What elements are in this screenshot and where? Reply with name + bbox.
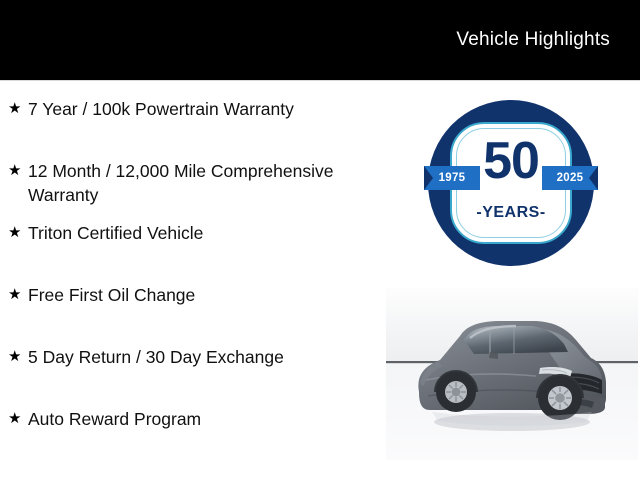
page-title: Vehicle Highlights xyxy=(456,29,610,51)
star-bullet-icon: ★ xyxy=(8,220,28,245)
list-item-label: Triton Certified Vehicle xyxy=(28,220,376,245)
badge-end-year-ribbon: 2025 xyxy=(542,166,598,190)
list-item: ★ 7 Year / 100k Powertrain Warranty xyxy=(8,96,376,158)
vehicle-illustration xyxy=(386,288,638,460)
vehicle-photo xyxy=(386,288,638,460)
star-bullet-icon: ★ xyxy=(8,158,28,183)
list-item: ★ Auto Reward Program xyxy=(8,406,376,468)
star-bullet-icon: ★ xyxy=(8,344,28,369)
badge-start-year-ribbon: 1975 xyxy=(424,166,480,190)
anniversary-badge: 50 -YEARS- 1975 2025 xyxy=(428,100,594,266)
star-bullet-icon: ★ xyxy=(8,96,28,121)
list-item-label: 12 Month / 12,000 Mile Comprehensive War… xyxy=(28,158,376,207)
list-item-label: 5 Day Return / 30 Day Exchange xyxy=(28,344,376,369)
list-item: ★ 5 Day Return / 30 Day Exchange xyxy=(8,344,376,406)
list-item-label: 7 Year / 100k Powertrain Warranty xyxy=(28,96,376,121)
list-item-label: Free First Oil Change xyxy=(28,282,376,307)
header-bar: Vehicle Highlights xyxy=(0,0,640,80)
list-item: ★ 12 Month / 12,000 Mile Comprehensive W… xyxy=(8,158,376,220)
list-item-label: Auto Reward Program xyxy=(28,406,376,431)
star-bullet-icon: ★ xyxy=(8,406,28,431)
list-item: ★ Triton Certified Vehicle xyxy=(8,220,376,282)
list-item: ★ Free First Oil Change xyxy=(8,282,376,344)
badge-years-label: -YEARS- xyxy=(428,204,594,222)
star-bullet-icon: ★ xyxy=(8,282,28,307)
header-divider xyxy=(0,80,640,81)
vehicle-highlights-list: ★ 7 Year / 100k Powertrain Warranty ★ 12… xyxy=(8,96,376,468)
